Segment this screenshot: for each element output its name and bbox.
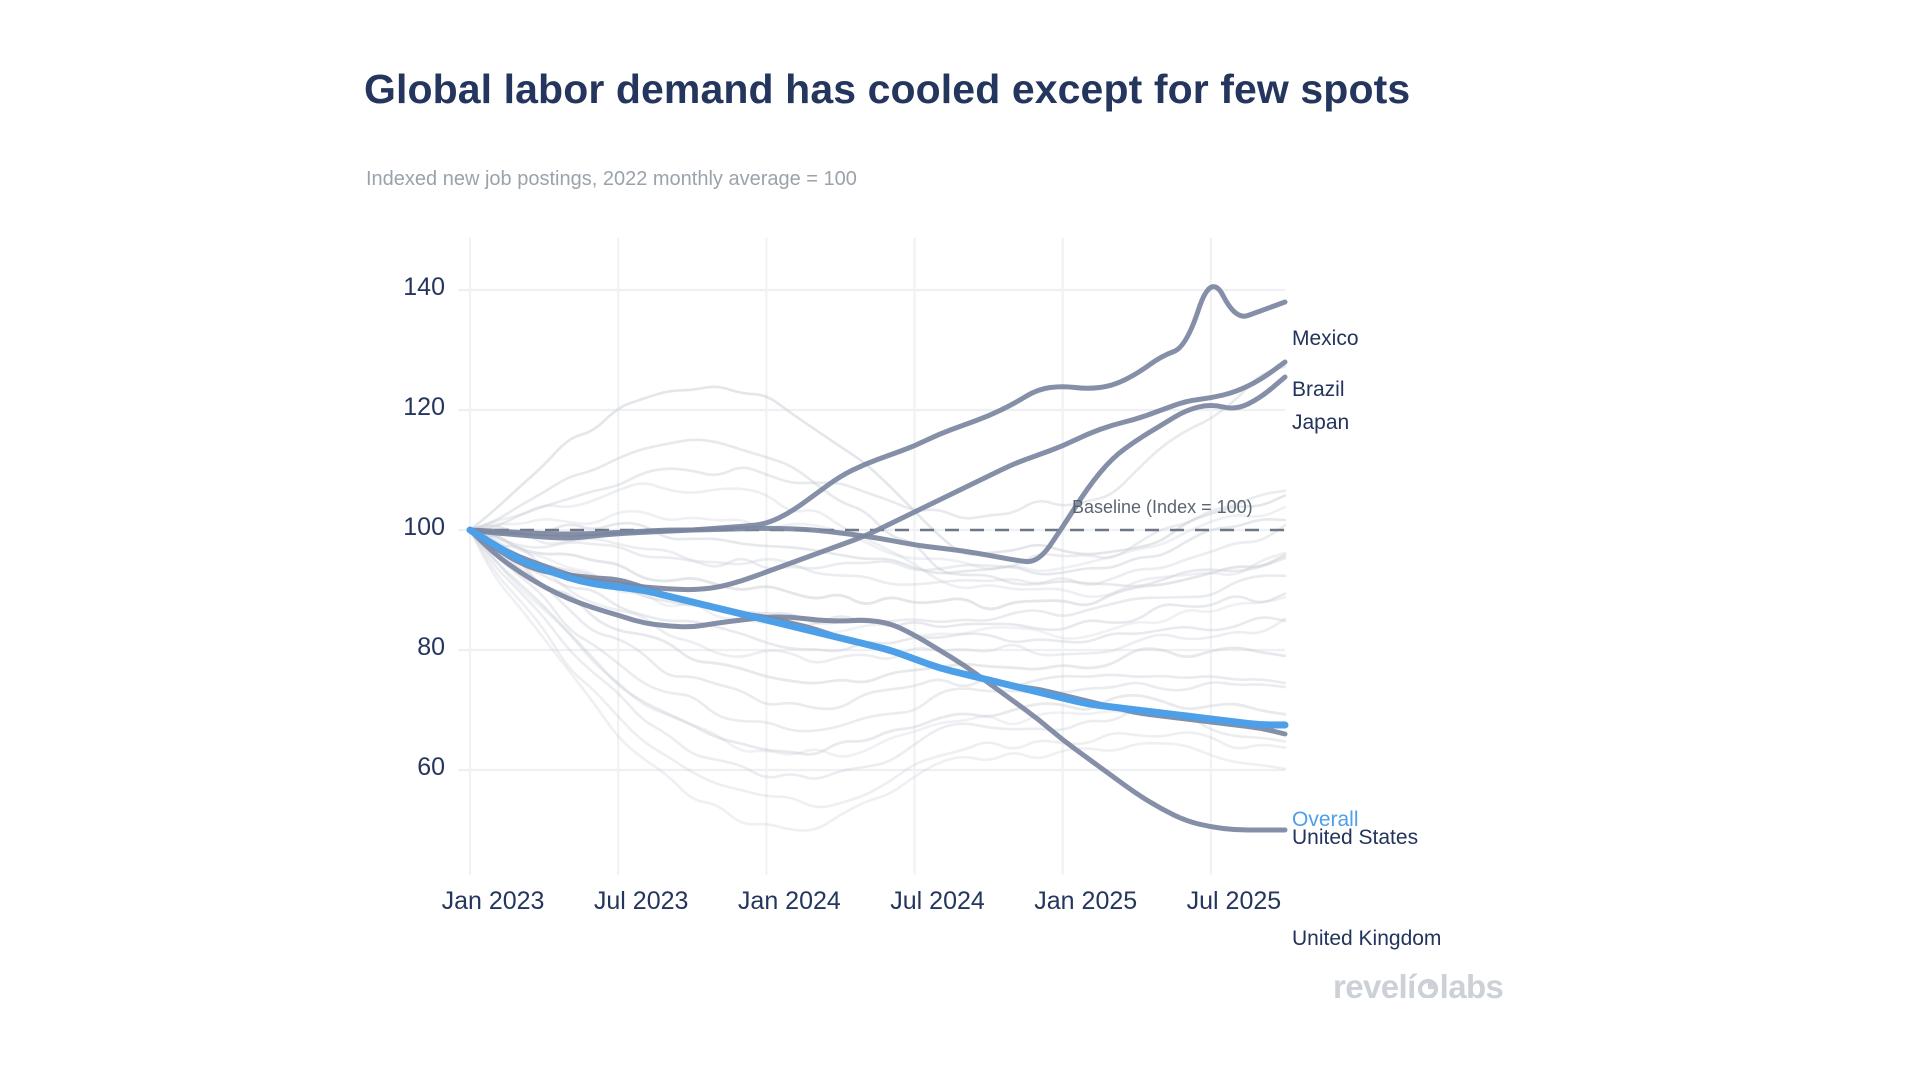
- series-label-united-kingdom: United Kingdom: [1292, 927, 1441, 951]
- y-axis-tick-label: 140: [330, 273, 445, 302]
- baseline-annotation-label: Baseline (Index = 100): [1072, 497, 1253, 518]
- series-label-mexico: Mexico: [1292, 327, 1359, 351]
- chart-figure: Global labor demand has cooled except fo…: [0, 0, 1920, 1080]
- series-label-brazil: Brazil: [1292, 378, 1345, 402]
- watermark-text-after: labs: [1440, 968, 1504, 1006]
- x-axis-tick-label: Jul 2025: [1144, 887, 1324, 916]
- line-chart-plot: [0, 0, 1920, 1080]
- watermark-text-before: revelí: [1333, 968, 1416, 1006]
- y-axis-tick-label: 60: [330, 753, 445, 782]
- background-series: [470, 366, 1285, 830]
- y-axis-tick-label: 120: [330, 393, 445, 422]
- y-axis-tick-label: 100: [330, 513, 445, 542]
- series-label-united-states: United States: [1292, 826, 1418, 850]
- pie-o-icon: [1417, 976, 1439, 998]
- revelio-labs-watermark: revelí labs: [1333, 968, 1503, 1006]
- y-axis-tick-label: 80: [330, 633, 445, 662]
- series-label-japan: Japan: [1292, 411, 1349, 435]
